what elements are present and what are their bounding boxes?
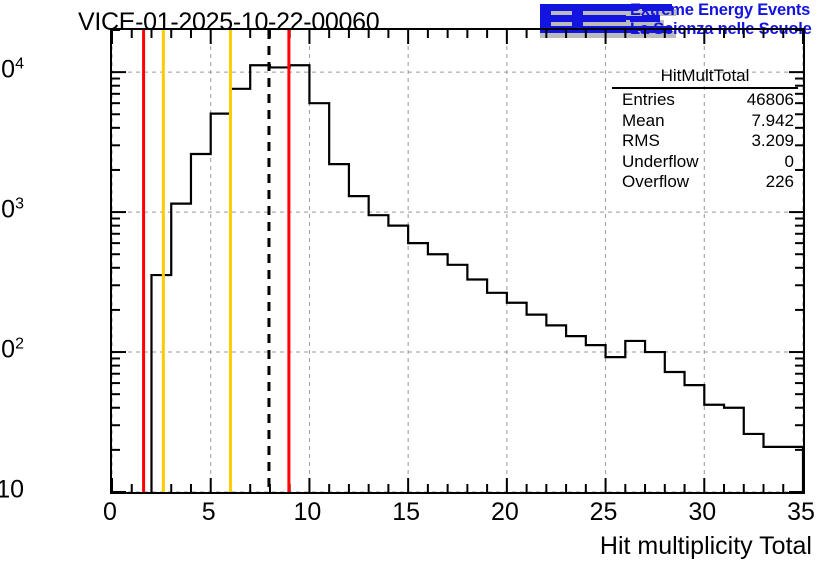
x-tick-label: 10 [294, 498, 322, 527]
stats-row-value: 3.209 [751, 131, 794, 152]
stats-rows: Entries46806Mean7.942RMS3.209Underflow0O… [612, 90, 798, 193]
stats-row: Underflow0 [612, 152, 798, 173]
x-tick-label: 35 [787, 498, 815, 527]
y-tick-label: 103 [0, 195, 24, 224]
x-tick-label: 25 [590, 498, 618, 527]
y-tick-label: 104 [0, 55, 24, 84]
root-canvas: VICE-01-2025-10-22-00060 [0, 0, 836, 572]
eee-logo-line1: Extreme Energy Events [630, 1, 812, 20]
stats-row: Overflow226 [612, 172, 798, 193]
x-tick-label: 5 [202, 498, 216, 527]
x-tick-label: 30 [688, 498, 716, 527]
stats-row: Mean7.942 [612, 111, 798, 132]
stats-row: RMS3.209 [612, 131, 798, 152]
stats-row-value: 226 [766, 172, 794, 193]
stats-row-label: RMS [622, 131, 660, 152]
stats-row-label: Mean [622, 111, 665, 132]
stats-title: HitMultTotal [612, 66, 798, 89]
x-tick-label: 0 [103, 498, 117, 527]
stats-row-value: 46806 [747, 90, 794, 111]
stats-row: Entries46806 [612, 90, 798, 111]
stats-row-value: 7.942 [751, 111, 794, 132]
stats-row-label: Entries [622, 90, 675, 111]
stats-row-value: 0 [785, 152, 794, 173]
y-tick-label: 102 [0, 335, 24, 364]
x-axis-title: Hit multiplicity Total [600, 532, 812, 561]
x-tick-label: 20 [491, 498, 519, 527]
x-tick-label: 15 [392, 498, 420, 527]
stats-row-label: Underflow [622, 152, 699, 173]
stats-row-label: Overflow [622, 172, 689, 193]
y-tick-label: 10 [0, 476, 24, 505]
stats-box: HitMultTotal Entries46806Mean7.942RMS3.2… [612, 66, 798, 193]
